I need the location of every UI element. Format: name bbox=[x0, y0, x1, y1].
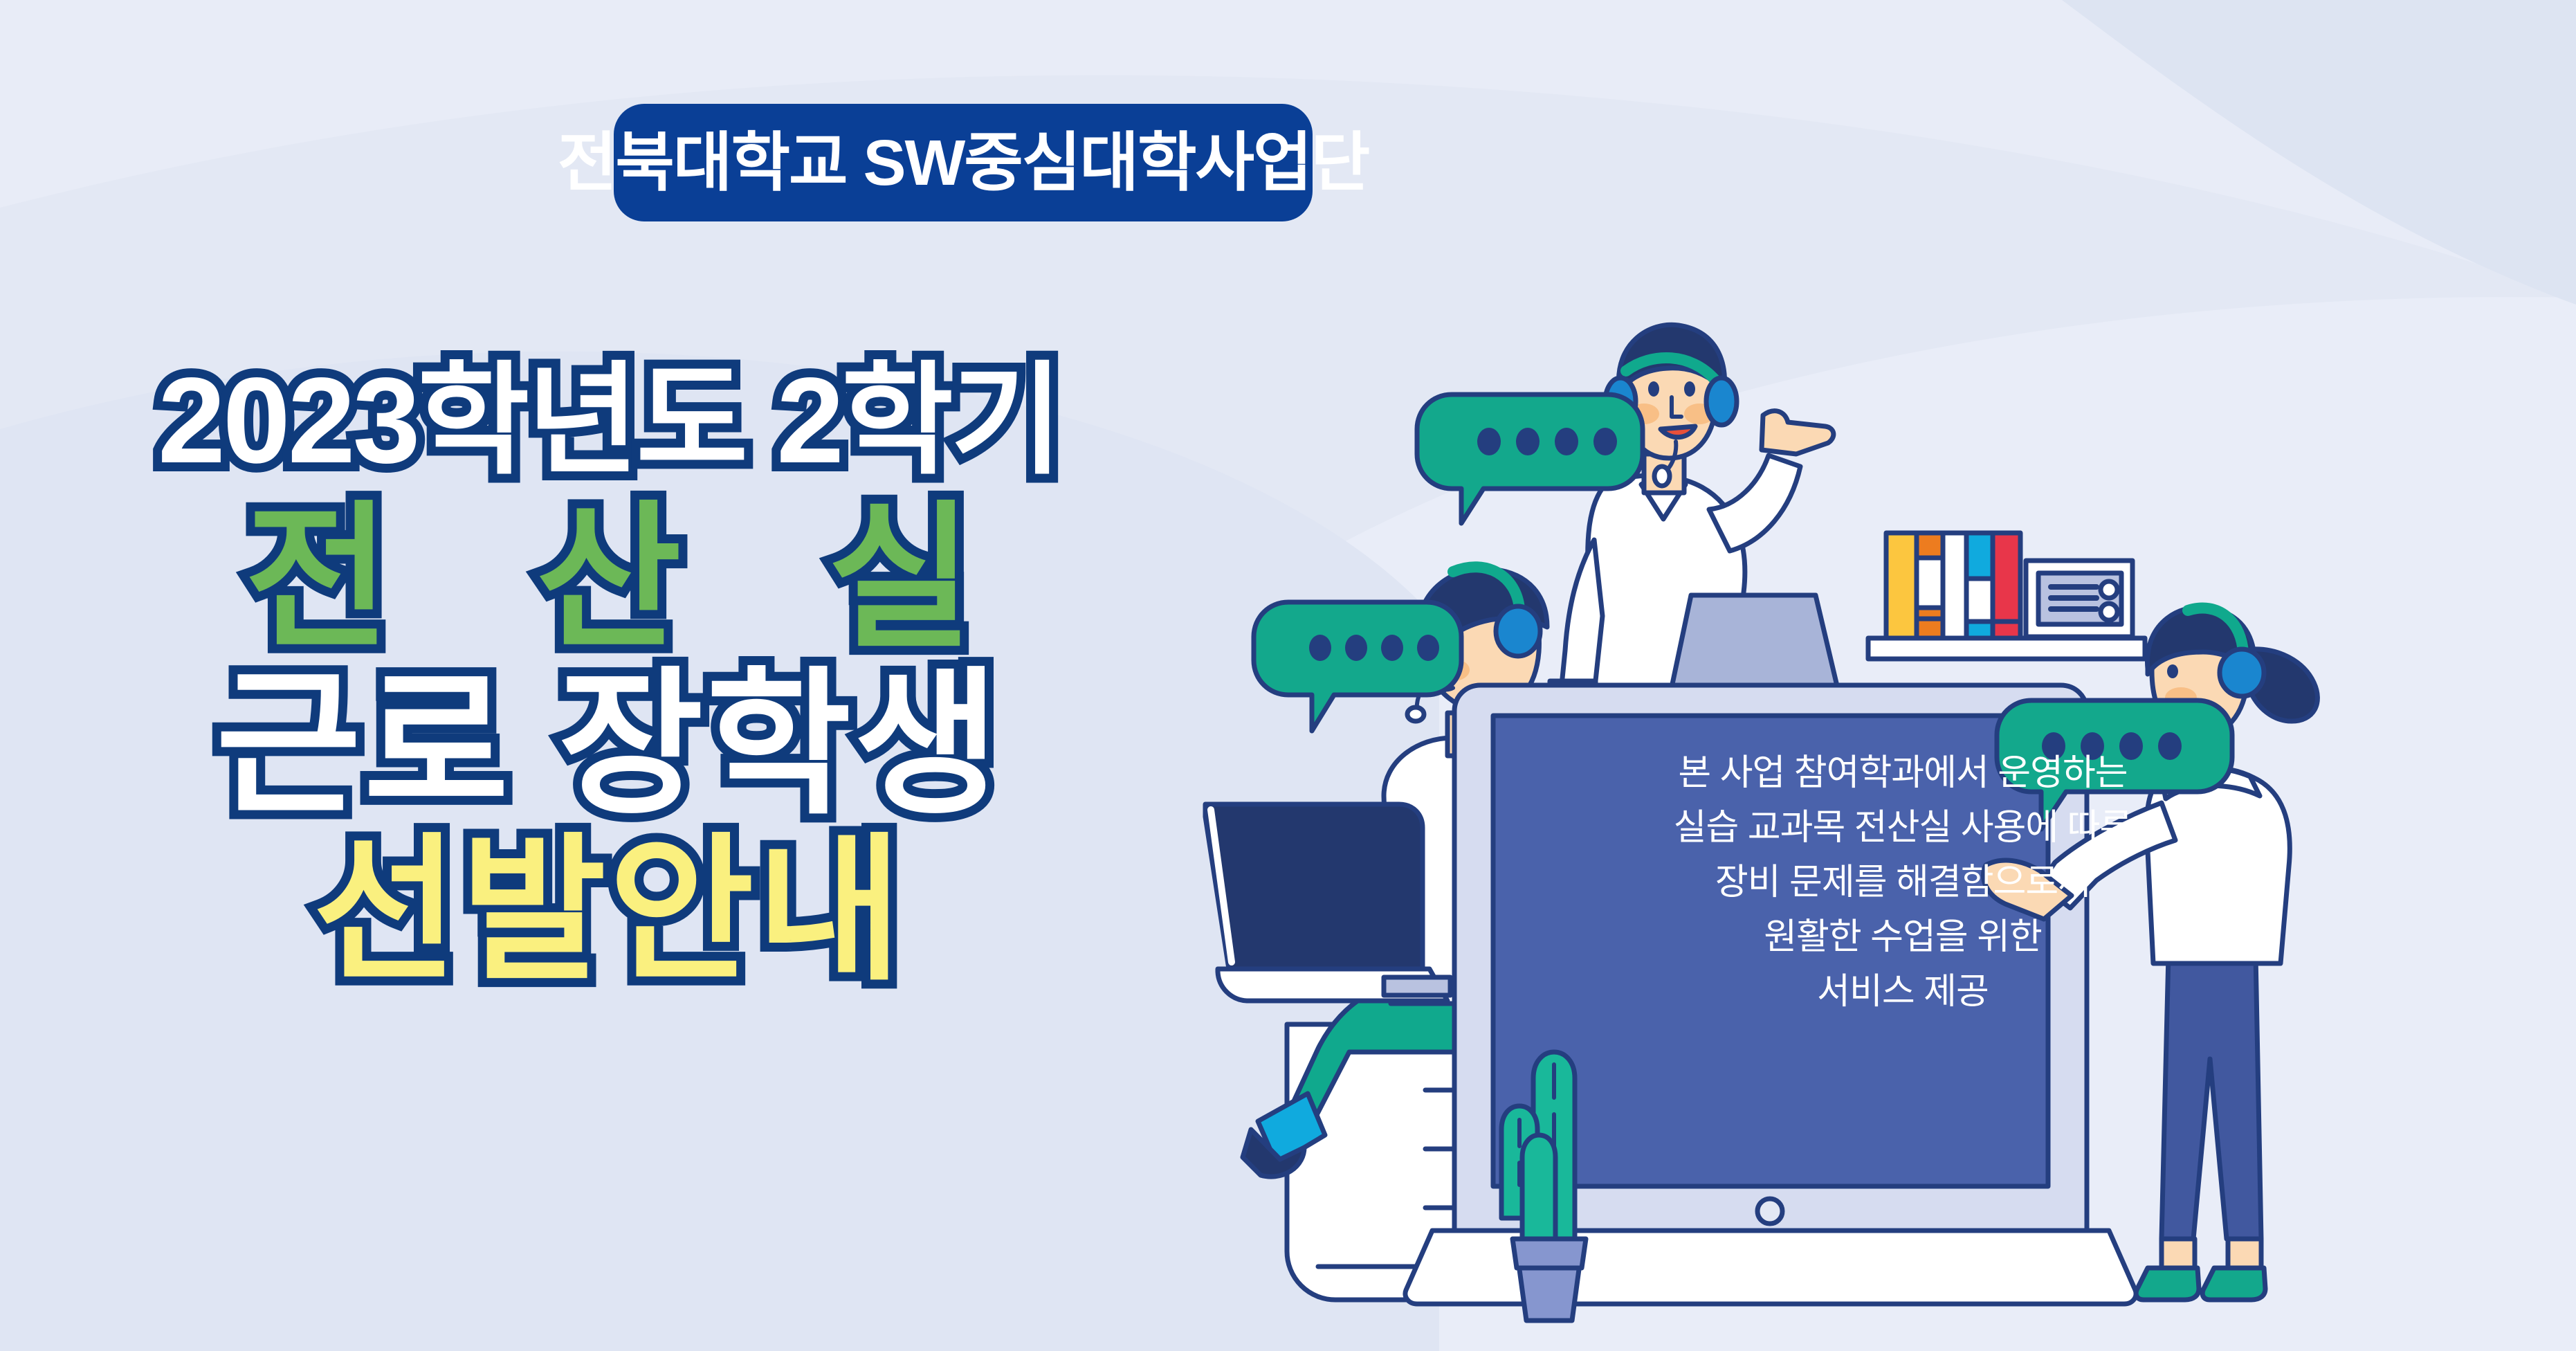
headline-block: 2023학년도 2학기 전 산 실 근로 장학생 선발안내 bbox=[0, 360, 1218, 990]
speech-bubble-mid-left bbox=[1254, 602, 1461, 731]
headline-lab: 전 산 실 bbox=[0, 500, 1218, 658]
headline-work-scholar: 근로 장학생 bbox=[0, 666, 1218, 824]
illustration-scene bbox=[1176, 318, 2576, 1351]
org-badge-label: 전북대학교 SW중심대학사업단 bbox=[558, 131, 1369, 195]
bookshelf bbox=[1868, 533, 2145, 659]
headline-selection-notice: 선발안내 bbox=[0, 832, 1218, 990]
open-laptop-left bbox=[1205, 804, 1450, 1001]
org-badge: 전북대학교 SW중심대학사업단 bbox=[614, 104, 1313, 221]
headline-year: 2023학년도 2학기 bbox=[0, 360, 1218, 482]
promo-banner: 전북대학교 SW중심대학사업단 2023학년도 2학기 전 산 실 근로 장학생… bbox=[0, 0, 2576, 1351]
